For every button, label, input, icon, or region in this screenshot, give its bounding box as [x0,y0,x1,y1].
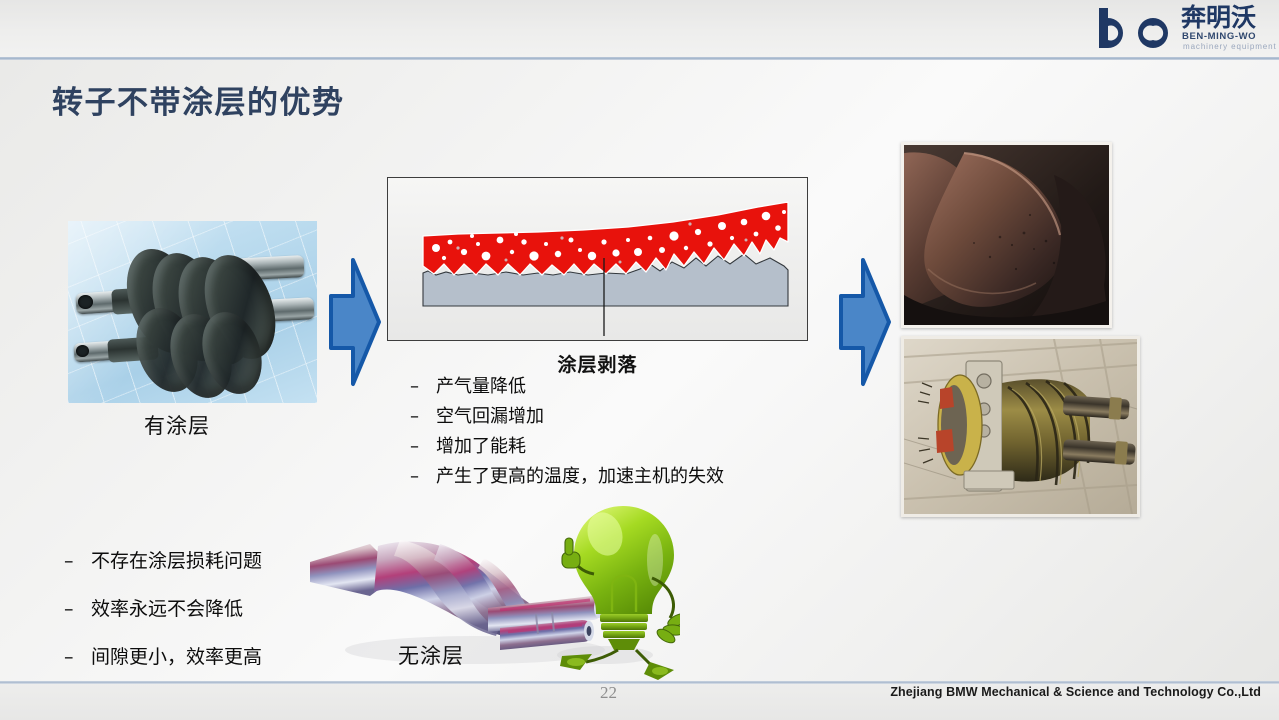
bullet-marker: – [410,466,436,487]
footer-company-name: Zhejiang BMW Mechanical & Science and Te… [890,685,1261,699]
flow-arrow-1-icon [327,256,382,388]
logo-chinese-name: 奔明沃 [1181,4,1256,31]
failed-rotor-assembly-image [901,336,1140,517]
flow-arrow-2-icon [837,256,892,388]
logo-tagline: machinery equipment [1183,42,1277,51]
page-title: 转子不带涂层的优势 [52,77,345,122]
coating-problem-list: – 产气量降低 – 空气回漏增加 – 增加了能耗 – 产生了更高的温度，加速主机… [410,372,860,492]
list-item: – 增加了能耗 [410,432,860,458]
list-item-label: 不存在涂层损耗问题 [91,546,262,573]
coated-rotor-image [68,221,317,403]
list-item: – 空气回漏增加 [410,402,860,428]
list-item: – 产生了更高的温度，加速主机的失效 [410,462,860,488]
rotor-assembly-svg [904,339,1137,514]
uncoated-rotor-lightbulb-graphic [300,500,680,680]
bullet-marker: – [64,646,91,668]
list-item: – 产气量降低 [410,372,860,398]
list-item-label: 产生了更高的温度，加速主机的失效 [436,462,724,488]
damaged-rotor-image [901,142,1112,328]
logo-english-name: BEN-MING-WO [1182,31,1256,42]
uncoated-rotor-caption: 无涂层 [398,640,464,670]
list-item-label: 产气量降低 [436,372,526,398]
list-item-label: 增加了能耗 [436,432,526,458]
header-divider [0,57,1279,60]
company-logo: 奔明沃 BEN-MING-WO machinery equipment [1095,4,1267,56]
bullet-marker: – [410,436,436,457]
coated-rotor-caption: 有涂层 [144,410,210,440]
list-item-label: 效率永远不会降低 [91,594,243,621]
page-number: 22 [600,683,617,703]
list-item-label: 间隙更小，效率更高 [91,642,262,669]
uncoated-rotor-lightbulb-svg [300,500,680,680]
presentation-slide: 奔明沃 BEN-MING-WO machinery equipment 转子不带… [0,0,1279,720]
damaged-rotor-svg [904,145,1109,325]
bullet-marker: – [410,376,436,397]
bullet-marker: – [64,598,91,620]
bullet-marker: – [410,406,436,427]
bullet-marker: – [64,550,91,572]
delamination-cross-section-svg [388,178,807,340]
bo-monogram-icon [1095,6,1181,50]
coating-delamination-diagram [387,177,808,341]
header-band [0,0,1279,58]
list-item-label: 空气回漏增加 [436,402,544,428]
